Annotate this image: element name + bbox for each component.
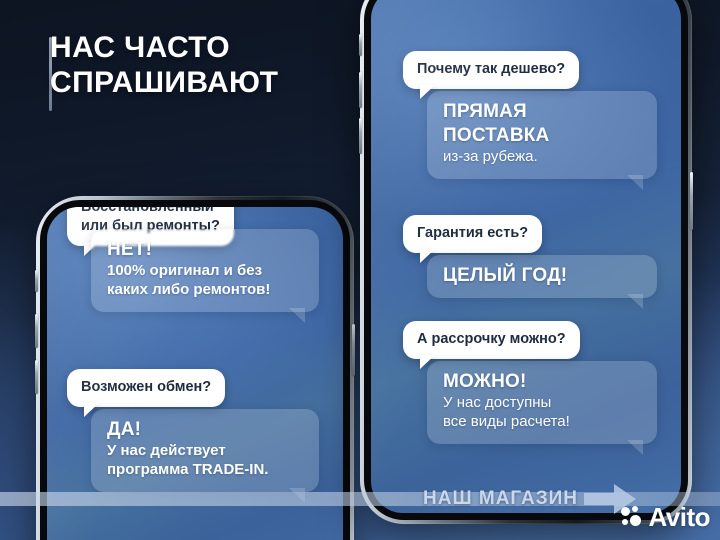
poster-canvas: НАС ЧАСТО СПРАШИВАЮТ Восстановленный или…	[0, 0, 720, 540]
page-title-line-2: СПРАШИВАЮТ	[50, 65, 350, 100]
chat-answer-bubble[interactable]: ДА! У нас действует программа TRADE-IN.	[91, 409, 319, 492]
avito-dots-icon	[621, 506, 643, 528]
bubble-tail-icon	[627, 294, 643, 309]
chat-answer-bubble[interactable]: ЦЕЛЫЙ ГОД!	[427, 255, 657, 298]
phone-left-power-button[interactable]	[352, 324, 355, 376]
phone-right-power-button[interactable]	[690, 172, 693, 230]
chat-question-line-1: Возможен обмен?	[81, 379, 211, 395]
chat-answer-bubble[interactable]: ПРЯМАЯ ПОСТАВКА из-за рубежа.	[427, 91, 657, 179]
chat-answer-headline: ДА!	[107, 418, 303, 441]
phone-left-volume-down-button[interactable]	[35, 360, 38, 394]
chat-answer-bubble[interactable]: МОЖНО! У нас доступны все виды расчета!	[427, 361, 657, 444]
phone-right-volume-down-button[interactable]	[359, 118, 362, 154]
chat-question-bubble[interactable]: Гарантия есть?	[403, 215, 542, 253]
phone-mockup-right: Почему так дешево? ПРЯМАЯ ПОСТАВКА из-за…	[360, 0, 692, 524]
chat-answer-line-1: из-за рубежа.	[443, 148, 641, 167]
phone-screen-right: Почему так дешево? ПРЯМАЯ ПОСТАВКА из-за…	[371, 0, 681, 513]
phone-left-mute-button[interactable]	[35, 270, 38, 292]
bubble-tail-icon	[627, 440, 643, 455]
phone-mockup-left: Восстановленный или был ремонты? НЕТ! 10…	[36, 196, 354, 540]
chat-question-bubble[interactable]: Почему так дешево?	[403, 51, 579, 89]
phone-right-volume-up-button[interactable]	[359, 72, 362, 108]
phone-right-mute-button[interactable]	[359, 34, 362, 56]
chat-question-line-1: Почему так дешево?	[417, 61, 565, 77]
phone-left-volume-up-button[interactable]	[35, 314, 38, 348]
chat-answer-headline-1: МОЖНО!	[443, 370, 641, 393]
chat-answer-line-2: программа TRADE-IN.	[107, 461, 303, 480]
chat-answer-line-1: У нас доступны	[443, 394, 641, 413]
chat-answer-line-2: все виды расчета!	[443, 413, 641, 432]
bubble-tail-icon	[289, 488, 305, 503]
chat-question-bubble[interactable]: Возможен обмен?	[67, 369, 225, 407]
chat-question-line-1: Гарантия есть?	[417, 225, 528, 241]
phone-screen-left: Восстановленный или был ремонты? НЕТ! 10…	[47, 207, 343, 540]
chat-question-line-1: Восстановленный	[81, 207, 214, 215]
chat-answer-headline-1: ПРЯМАЯ	[443, 100, 641, 123]
chat-question-bubble[interactable]: А рассрочку можно?	[403, 321, 580, 359]
chat-answer-line-2: каких либо ремонтов!	[107, 281, 303, 300]
chat-answer-line-1: 100% оригинал и без	[107, 262, 303, 281]
avito-wordmark: Avito	[648, 504, 710, 530]
avito-logo: Avito	[621, 504, 710, 530]
page-title-line-1: НАС ЧАСТО	[50, 30, 350, 65]
chat-question-line-1: А рассрочку можно?	[417, 331, 566, 347]
chat-answer-line-1: У нас действует	[107, 442, 303, 461]
page-title: НАС ЧАСТО СПРАШИВАЮТ	[50, 30, 350, 101]
bubble-tail-icon	[627, 175, 643, 190]
chat-answer-headline-2: ПОСТАВКА	[443, 124, 641, 147]
chat-answer-headline: НЕТ!	[107, 238, 303, 261]
bubble-tail-icon	[289, 308, 305, 323]
chat-answer-bubble[interactable]: НЕТ! 100% оригинал и без каких либо ремо…	[91, 229, 319, 312]
chat-answer-headline-1: ЦЕЛЫЙ ГОД!	[443, 264, 641, 287]
